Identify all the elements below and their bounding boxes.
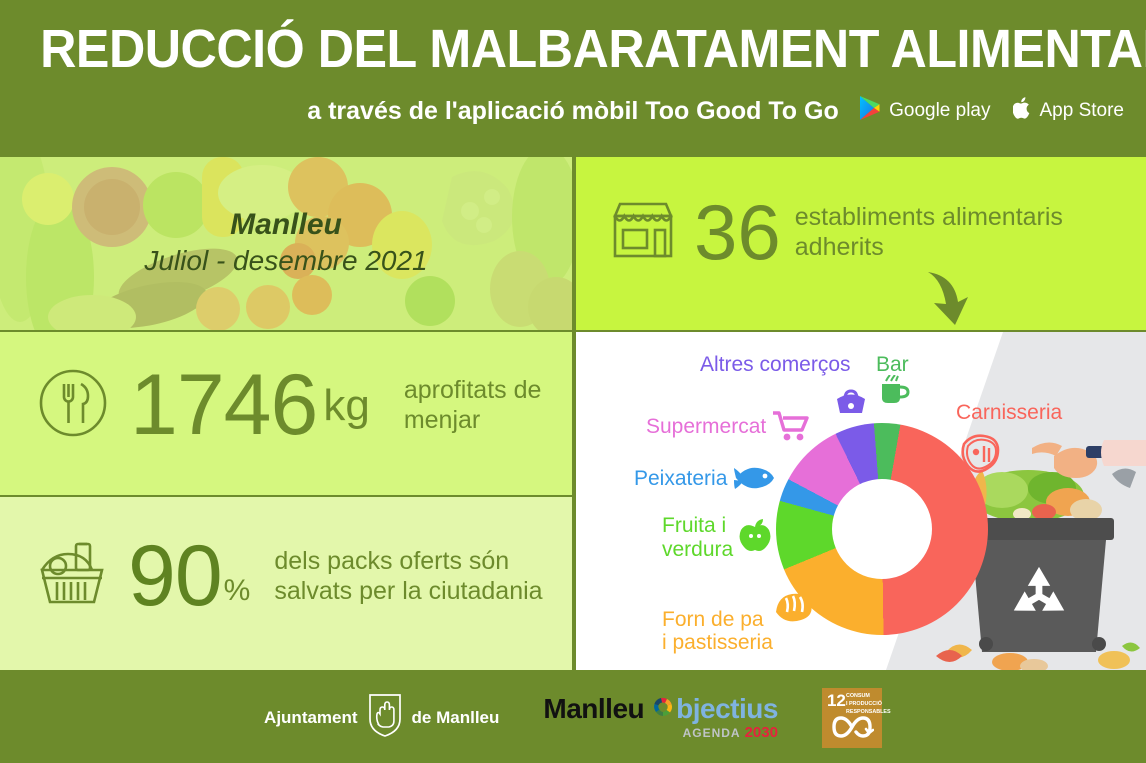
meat-icon <box>954 432 1000 482</box>
apple-icon <box>738 518 772 558</box>
objectius-manlleu-text: Manlleu <box>543 695 644 723</box>
chart-label-fruita-verdura: Fruita i verdura <box>662 514 733 561</box>
app-store-badge[interactable]: App Store <box>1013 96 1125 126</box>
chart-label-forn-pa-text: Forn de pa i pastisseria <box>662 608 773 655</box>
sdg-12-logo: 12 CONSUM I PRODUCCIÓ RESPONSABLES <box>822 688 882 748</box>
basket-icon <box>834 387 868 421</box>
header-banner: REDUCCIÓ DEL MALBARATAMENT ALIMENTARI a … <box>0 0 1146 155</box>
shopping-cart-icon <box>772 410 810 448</box>
chart-label-bar: Bar <box>876 352 909 376</box>
google-play-badge[interactable]: Google play <box>858 95 990 127</box>
chart-label-carnisseria-text: Carnisseria <box>956 401 1062 425</box>
cutlery-circle-icon <box>36 366 110 445</box>
packs-value: 90 <box>128 537 222 616</box>
sdg-text-line-1: CONSUM <box>846 693 870 701</box>
infinity-icon <box>832 714 874 745</box>
donut-center-hole <box>832 479 932 579</box>
chart-label-bar-text: Bar <box>876 353 909 377</box>
chart-label-peixateria: Peixateria <box>634 466 727 490</box>
hand-shield-icon <box>367 692 403 743</box>
chart-label-forn-pa: Forn de pa i pastisseria <box>662 584 773 655</box>
chart-label-altres-comercos: Altres comerços <box>700 352 830 376</box>
google-play-label: Google play <box>889 100 990 122</box>
ajuntament-suffix: de Manlleu <box>412 708 500 728</box>
packs-stat-panel: 90 % dels packs oferts són salvats per l… <box>0 497 572 670</box>
coffee-cup-icon <box>879 375 911 411</box>
shops-description: establiments alimentaris adherits <box>795 202 1063 262</box>
storefront-icon <box>610 198 676 267</box>
manlleu-objectius-logo: Manlleu <box>543 695 778 741</box>
packs-unit: % <box>224 576 251 606</box>
shops-count: 36 <box>694 197 781 267</box>
city-name: Manlleu <box>230 209 342 241</box>
food-description: aprofitats de menjar <box>404 376 542 435</box>
app-store-badges: Google play App Store <box>858 95 1124 127</box>
chart-label-fruita-verdura-text: Fruita i verdura <box>662 514 733 561</box>
google-play-icon <box>858 95 882 127</box>
page-title: REDUCCIÓ DEL MALBARATAMENT ALIMENTARI <box>40 18 1106 80</box>
app-store-label: App Store <box>1040 100 1125 122</box>
sdg-number: 12 <box>827 692 846 709</box>
packs-description: dels packs oferts són salvats per la ciu… <box>274 547 542 606</box>
infographic-root: REDUCCIÓ DEL MALBARATAMENT ALIMENTARI a … <box>0 0 1146 763</box>
objectius-agenda-text: AGENDA <box>683 726 741 740</box>
chart-label-altres-comercos-text: Altres comerços <box>700 353 851 377</box>
objectius-year-text: 2030 <box>745 724 778 741</box>
food-stat-row: 1746 kg aprofitats de menjar <box>36 366 541 445</box>
shopping-basket-icon <box>36 540 108 613</box>
photo-panel: Manlleu Juliol - desembre 2021 <box>0 157 572 330</box>
shops-stat-row: 36 establiments alimentaris adherits <box>610 197 1063 267</box>
bread-icon <box>772 590 814 628</box>
chart-label-supermercat: Supermercat <box>646 414 766 438</box>
chart-label-carnisseria: Carnisseria <box>956 400 1062 424</box>
chart-panel: Altres comerços Bar Supermercat <box>576 332 1146 670</box>
sdg-wheel-icon <box>652 695 674 723</box>
period-label: Juliol - desembre 2021 <box>144 243 427 278</box>
ajuntament-prefix: Ajuntament <box>264 708 358 728</box>
food-value: 1746 <box>130 366 317 445</box>
food-stat-panel: 1746 kg aprofitats de menjar <box>0 332 572 495</box>
curved-arrow-icon <box>924 270 986 335</box>
chart-label-peixateria-text: Peixateria <box>634 467 727 491</box>
footer-bar: Ajuntament de Manlleu Manlleu <box>0 672 1146 763</box>
food-unit: kg <box>323 384 369 428</box>
sdg-text-line-2: I PRODUCCIÓ <box>846 701 882 709</box>
ajuntament-logo: Ajuntament de Manlleu <box>264 692 499 743</box>
shops-stat-panel: 36 establiments alimentaris adherits <box>576 157 1146 330</box>
apple-icon <box>1013 96 1033 126</box>
chart-label-supermercat-text: Supermercat <box>646 415 766 439</box>
objectius-word-text: bjectius <box>676 695 778 723</box>
packs-stat-row: 90 % dels packs oferts són salvats per l… <box>36 537 543 616</box>
fish-icon <box>734 464 776 498</box>
